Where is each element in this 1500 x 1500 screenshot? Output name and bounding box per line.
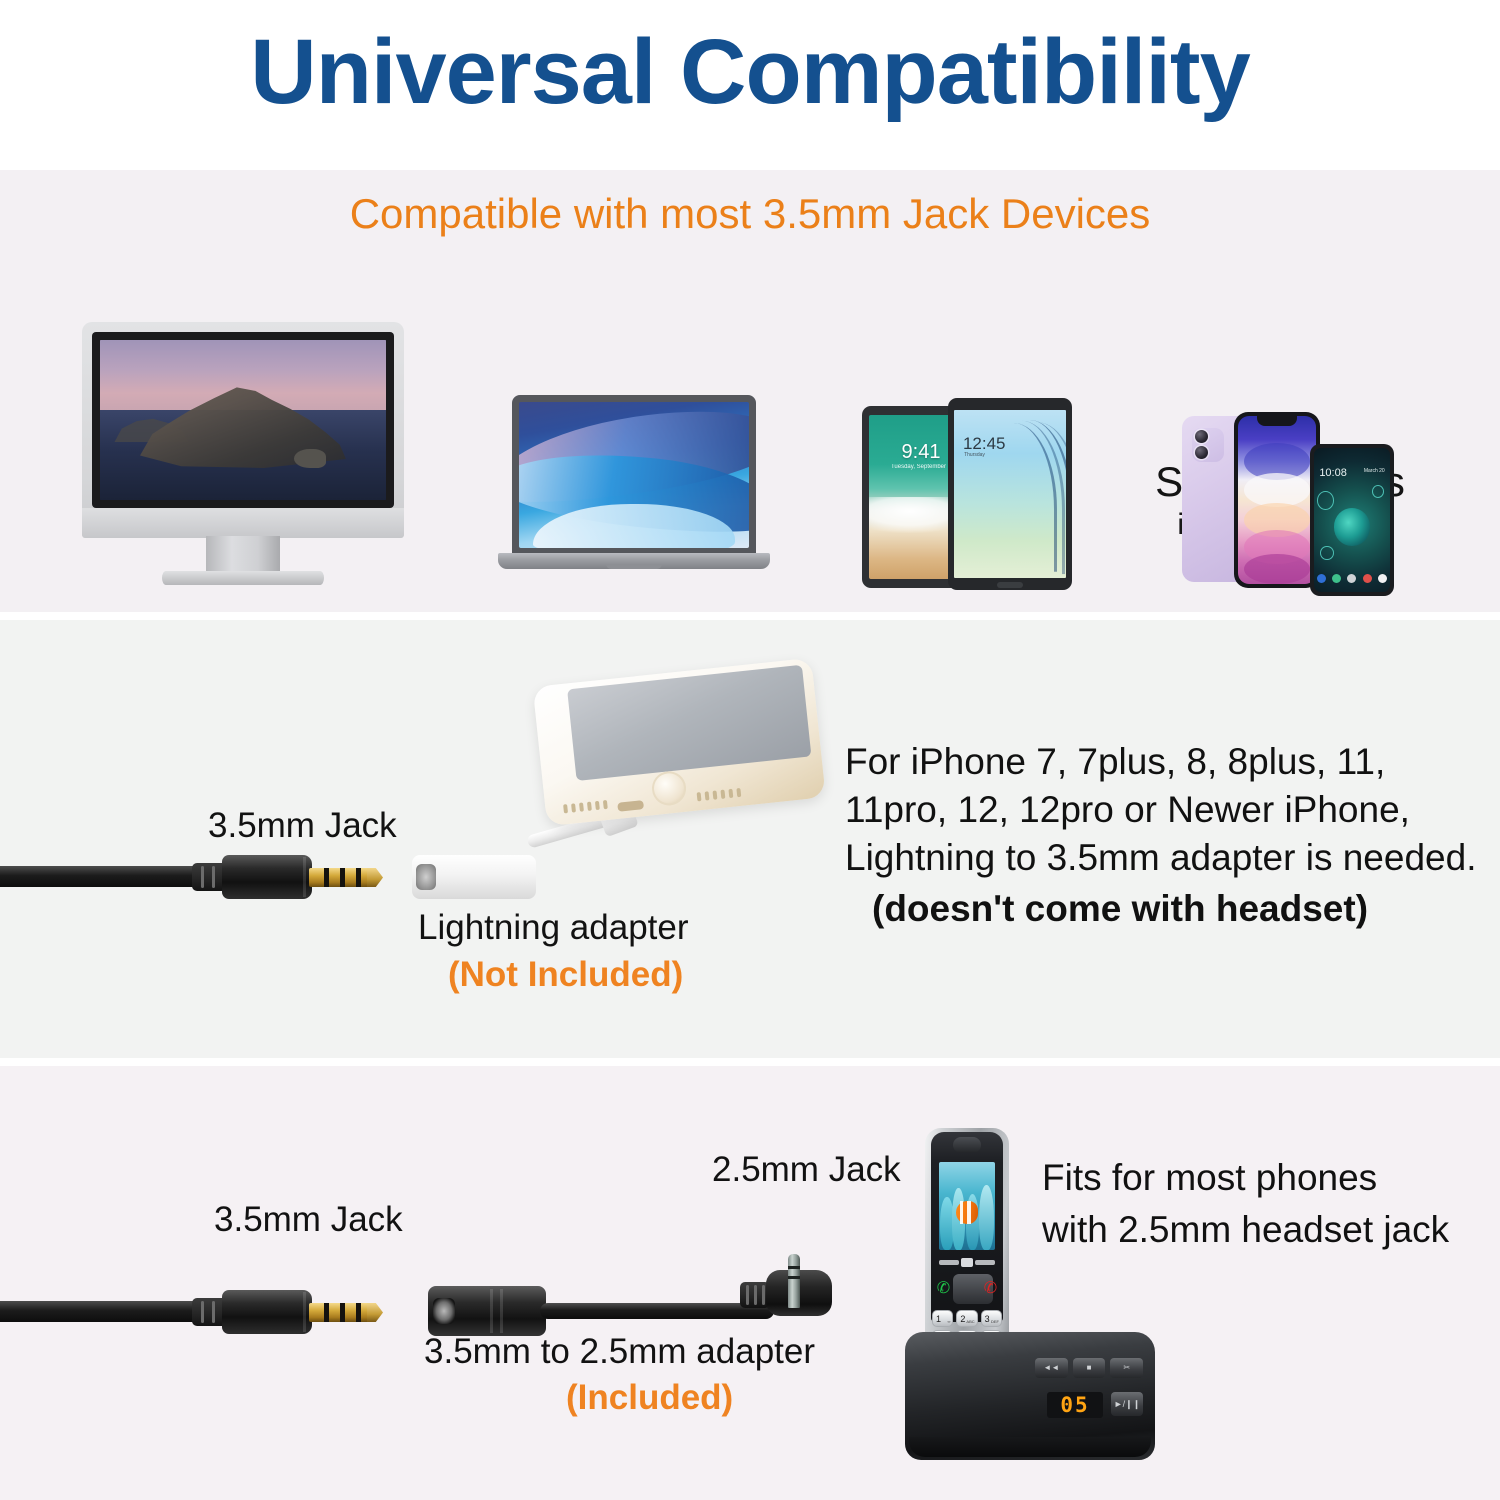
label-35-to-25-adapter: 3.5mm to 2.5mm adapter bbox=[424, 1332, 815, 1372]
headset-cable bbox=[0, 866, 200, 887]
socket-rib bbox=[490, 1289, 493, 1333]
key-number: 2 bbox=[960, 1313, 965, 1325]
right-angle-25mm-plug bbox=[766, 1254, 832, 1316]
macbook-lid-notch bbox=[606, 564, 662, 569]
section-subtitle: Compatible with most 3.5mm Jack Devices bbox=[0, 190, 1500, 238]
samsung-wallpaper-swirl bbox=[1003, 420, 1066, 575]
key-number: 1 bbox=[936, 1313, 941, 1325]
socket-hole bbox=[433, 1298, 455, 1324]
keypad-key: 1∞ bbox=[932, 1310, 953, 1327]
message-key bbox=[961, 1258, 973, 1267]
jack-housing bbox=[222, 855, 312, 899]
handset-front-panel: ✆ ✆ bbox=[931, 1132, 1003, 1322]
wallpaper-ring bbox=[1372, 485, 1384, 498]
label-included: (Included) bbox=[566, 1378, 733, 1418]
wallpaper-layer bbox=[1244, 554, 1310, 584]
cordless-phone-image: ✆ ✆ 1∞ 2ABC 3DEF 4GHI 5JKL 6MNO 7PQRS 8T… bbox=[905, 1128, 1155, 1468]
key-number: 3 bbox=[985, 1313, 990, 1325]
plug-25mm-pin bbox=[788, 1254, 800, 1308]
iphone-microphone-grille bbox=[697, 788, 742, 802]
key-letters: ABC bbox=[966, 1319, 974, 1324]
adapter-socket-hole bbox=[416, 864, 436, 890]
base-control-buttons: ◄◄ ■ ✂ bbox=[1035, 1358, 1143, 1378]
imac-screen-wallpaper bbox=[100, 340, 386, 500]
jack-housing bbox=[222, 1290, 312, 1334]
samsung-lockscreen-date: Thursday bbox=[964, 452, 985, 458]
android-lockscreen-time: 10:08 bbox=[1319, 467, 1347, 479]
wallpaper-layer bbox=[1244, 473, 1310, 507]
imac-chin bbox=[82, 508, 404, 538]
handset-end-button: ✆ bbox=[982, 1280, 999, 1297]
female-35mm-socket bbox=[428, 1286, 546, 1336]
handset-soft-keys bbox=[939, 1256, 995, 1268]
android-lockscreen-date: March 20 bbox=[1364, 468, 1385, 474]
jack-tip bbox=[367, 1303, 383, 1322]
label-25mm-jack: 2.5mm Jack bbox=[712, 1150, 901, 1190]
wallpaper-rock bbox=[294, 449, 325, 468]
jack-insulator-ring bbox=[340, 868, 345, 887]
keypad-key: 2ABC bbox=[956, 1310, 977, 1327]
iphone-home-button bbox=[650, 770, 687, 807]
header-band: Universal Compatibility bbox=[0, 0, 1500, 170]
info-line-2: 11pro, 12, 12pro or Newer iPhone, bbox=[845, 786, 1410, 834]
imac-body bbox=[82, 322, 404, 538]
label-35mm-jack-bottom: 3.5mm Jack bbox=[214, 1200, 403, 1240]
adapter-cord-bottom bbox=[540, 1303, 774, 1319]
socket-rib bbox=[500, 1289, 503, 1333]
base-button: ■ bbox=[1073, 1358, 1106, 1378]
samsung-lockscreen-time: 12:45 bbox=[963, 434, 1006, 454]
label-35mm-jack: 3.5mm Jack bbox=[208, 806, 397, 846]
iphone-notch bbox=[1257, 416, 1297, 426]
soft-key-right bbox=[975, 1260, 995, 1265]
jack-insulator-ring bbox=[324, 868, 329, 887]
samsung-tablet-screen: 12:45 Thursday bbox=[954, 410, 1066, 578]
screen-clownfish bbox=[956, 1201, 978, 1224]
jack-insulator-ring bbox=[356, 1303, 361, 1322]
page-title: Universal Compatibility bbox=[0, 24, 1500, 121]
iphone-camera-module bbox=[1192, 428, 1224, 462]
samsung-home-button bbox=[997, 582, 1023, 588]
handset-earpiece bbox=[953, 1137, 981, 1153]
handset-screen bbox=[939, 1162, 995, 1250]
imac-stand-neck bbox=[206, 536, 280, 574]
keypad-key: 3DEF bbox=[981, 1310, 1002, 1327]
handset-call-button: ✆ bbox=[935, 1280, 952, 1297]
imac-bezel bbox=[92, 332, 394, 508]
jack-tip bbox=[367, 868, 383, 887]
iphone-speaker-grille bbox=[563, 800, 608, 814]
wallpaper-ring bbox=[1320, 546, 1334, 560]
wallpaper-blob bbox=[1334, 508, 1370, 545]
base-button: ✂ bbox=[1110, 1358, 1143, 1378]
wallpaper-ring bbox=[1317, 491, 1334, 510]
key-letters: DEF bbox=[991, 1319, 999, 1324]
android-screen: 10:08 March 20 bbox=[1314, 448, 1390, 592]
headset-cable-bottom bbox=[0, 1301, 200, 1322]
info-line-1: For iPhone 7, 7plus, 8, 8plus, 11, bbox=[845, 738, 1385, 786]
iphone-screen bbox=[1238, 416, 1316, 584]
male-35mm-jack-connector bbox=[192, 850, 382, 904]
label-not-included: (Not Included) bbox=[448, 955, 683, 995]
base-button: ◄◄ bbox=[1035, 1358, 1068, 1378]
jack-insulator-ring bbox=[356, 868, 361, 887]
imac-stand-foot bbox=[162, 571, 324, 585]
imac-desktop-image bbox=[82, 322, 404, 590]
macbook-laptop-image bbox=[498, 395, 770, 590]
iphone-lightning-port bbox=[617, 800, 644, 812]
label-lightning-adapter: Lightning adapter bbox=[418, 908, 689, 948]
iphone-display-area bbox=[567, 665, 811, 781]
cordless-base-station: ◄◄ ■ ✂ 05 ►/❙❙ bbox=[905, 1332, 1155, 1460]
soft-key-left bbox=[939, 1260, 959, 1265]
android-phone-device: 10:08 March 20 bbox=[1310, 444, 1394, 596]
screen-anemone bbox=[979, 1185, 994, 1250]
base-play-button: ►/❙❙ bbox=[1111, 1392, 1143, 1416]
key-letters: ∞ bbox=[947, 1319, 950, 1324]
iphone-front-device bbox=[1234, 412, 1320, 588]
macbook-lid bbox=[512, 395, 756, 555]
tablets-image: 9:41 Tuesday, September 1 12:45 Thursday bbox=[862, 398, 1072, 593]
iphone-bottom-edge-image bbox=[533, 658, 828, 841]
macbook-screen-wallpaper bbox=[519, 402, 749, 548]
iphone-body bbox=[533, 658, 826, 827]
smartphones-image: 10:08 March 20 bbox=[1172, 412, 1402, 598]
base-bottom-lip bbox=[909, 1437, 1151, 1457]
male-35mm-jack-connector-bottom bbox=[192, 1285, 382, 1339]
lightning-adapter-socket bbox=[412, 855, 536, 899]
info-line-3: Lightning to 3.5mm adapter is needed. bbox=[845, 834, 1476, 882]
25mm-adapter-section: 3.5mm Jack 2.5mm Jack 3.5mm to 2.5mm ada… bbox=[0, 1066, 1500, 1500]
info-line-bold: (doesn't come with headset) bbox=[872, 885, 1368, 933]
samsung-tablet-device: 12:45 Thursday bbox=[948, 398, 1072, 590]
jack-insulator-ring bbox=[340, 1303, 345, 1322]
android-dock bbox=[1314, 570, 1390, 586]
jack-insulator-ring bbox=[324, 1303, 329, 1322]
base-led-display: 05 bbox=[1047, 1392, 1103, 1418]
